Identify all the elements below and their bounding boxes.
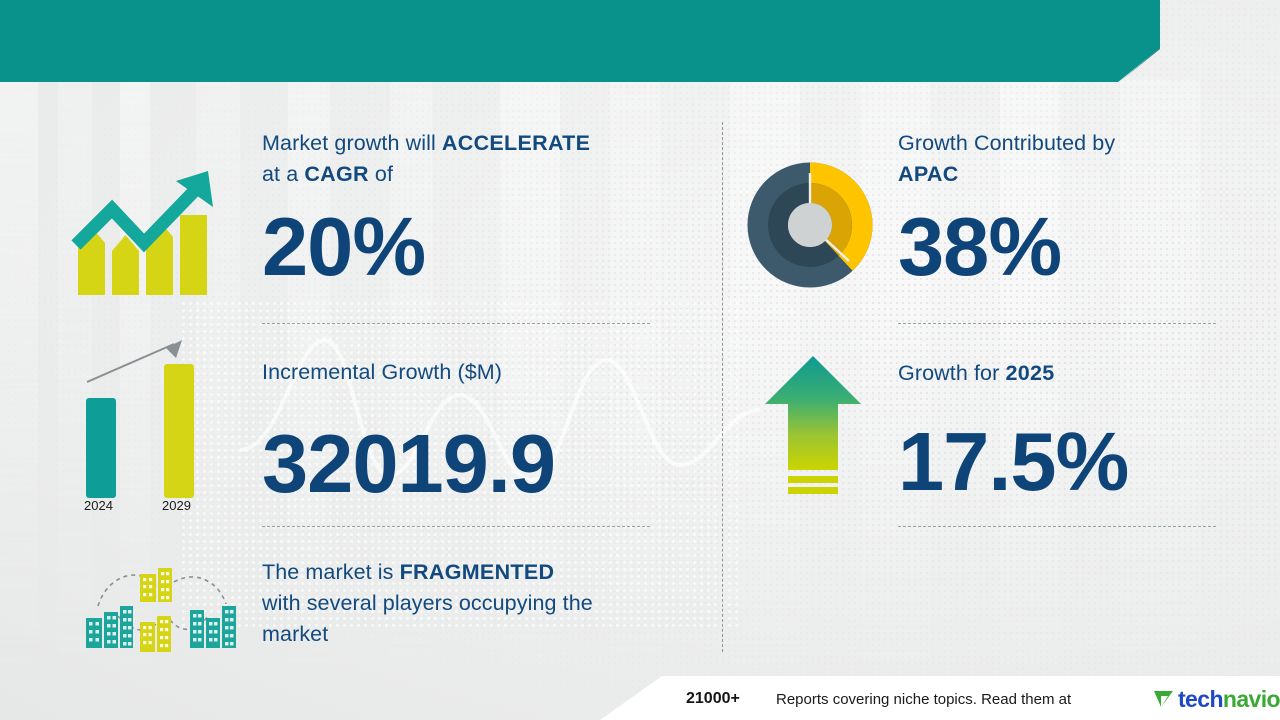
divider-left-2 (262, 526, 650, 527)
bar-label-2024: 2024 (84, 498, 113, 513)
growth-2025-caption: Growth for 2025 (898, 358, 1228, 389)
up-arrow-icon (762, 352, 864, 507)
divider-left-1 (262, 323, 650, 324)
growth-2025-value: 17.5% (898, 420, 1128, 503)
infographic-canvas: GLOBAL AI HARDWARE FOR EDGE DEVICES MARK… (0, 0, 1280, 720)
apac-value: 38% (898, 205, 1061, 288)
cagr-caption: Market growth will ACCELERATE at a CAGR … (262, 128, 682, 190)
column-divider (722, 122, 723, 652)
city-clusters-icon (78, 560, 246, 656)
report-count: 21000+ (686, 690, 740, 708)
apac-caption: Growth Contributed by APAC (898, 128, 1228, 190)
technavio-logo[interactable]: technavio™ (1152, 685, 1280, 713)
divider-right-2 (898, 526, 1216, 527)
cagr-value: 20% (262, 205, 425, 288)
logo-text-secondary: navio (1223, 686, 1280, 713)
divider-right-1 (898, 323, 1216, 324)
logo-text-primary: tech (1178, 686, 1223, 713)
fragmentation-caption: The market is FRAGMENTED with several pl… (262, 557, 692, 650)
footer-tagline: Reports covering niche topics. Read them… (776, 691, 1071, 708)
header-band (0, 0, 1160, 82)
bar-comparison-icon (70, 330, 220, 520)
bar-label-2029: 2029 (162, 498, 191, 513)
donut-chart-icon (747, 162, 873, 288)
technavio-mark-icon (1152, 687, 1176, 711)
incremental-caption: Incremental Growth ($M) (262, 357, 682, 388)
growth-chart-icon (68, 165, 228, 305)
incremental-value: 32019.9 (262, 422, 555, 505)
